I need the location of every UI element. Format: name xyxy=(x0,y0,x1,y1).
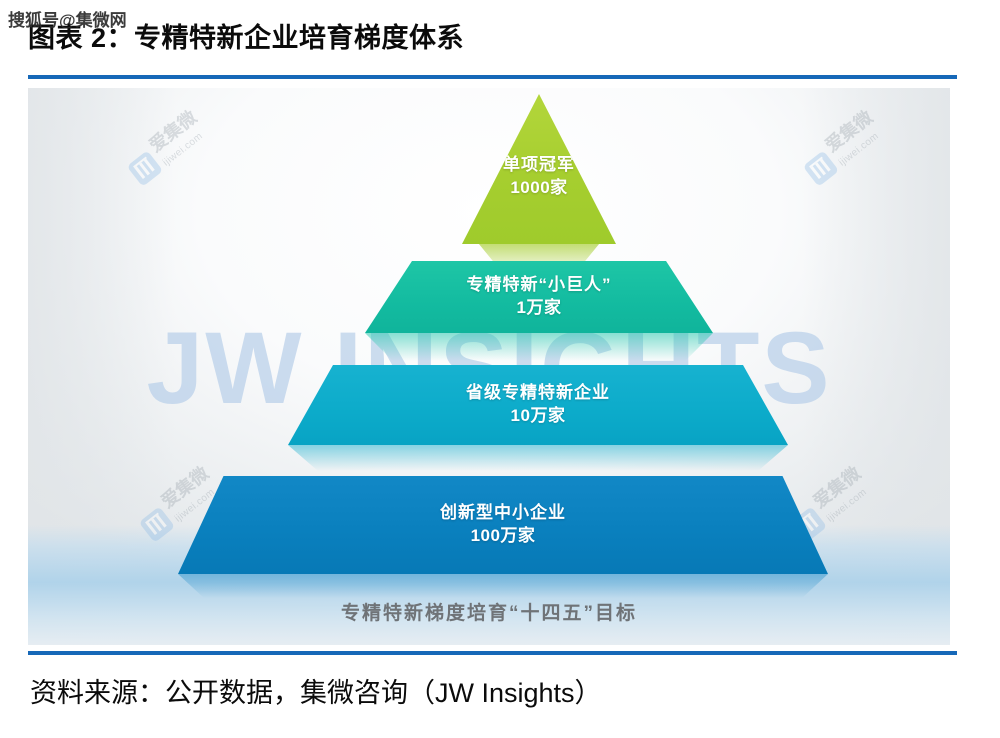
title-divider-bottom xyxy=(28,651,957,655)
tier-4-label: 创新型中小企业 xyxy=(440,502,566,525)
tier-1-value: 1000家 xyxy=(510,177,567,200)
pyramid-tier-3[interactable]: 省级专精特新企业 10万家 xyxy=(288,365,788,445)
top-source-watermark: 搜狐号@集微网 xyxy=(8,6,127,31)
tier-3-label: 省级专精特新企业 xyxy=(466,382,610,405)
pyramid-tier-1[interactable]: 单项冠军 1000家 xyxy=(462,94,616,244)
tier-3-value: 10万家 xyxy=(511,405,566,428)
figure-panel: JW INSIGHTS 爱集微 ijiwei.com 爱集微 ijiwei.co… xyxy=(28,88,950,645)
source-note: 资料来源：公开数据，集微咨询（JW Insights） xyxy=(30,671,602,710)
pyramid-tier-2[interactable]: 专精特新“小巨人” 1万家 xyxy=(365,261,713,333)
tier-4-reflection xyxy=(178,574,828,598)
tier-4-value: 100万家 xyxy=(471,525,536,548)
tier-2-reflection xyxy=(365,333,713,361)
title-divider-top xyxy=(28,75,957,79)
tier-2-label: 专精特新“小巨人” xyxy=(467,274,612,297)
tier-3-reflection xyxy=(288,445,788,471)
pyramid-tier-4[interactable]: 创新型中小企业 100万家 xyxy=(178,476,828,574)
tier-2-value: 1万家 xyxy=(517,297,562,320)
pyramid-chart: 单项冠军 1000家 专精特新“小巨人” 1万家 省级专精特新企业 10万家 创… xyxy=(28,88,950,645)
tier-1-label: 单项冠军 xyxy=(503,154,575,177)
pyramid-base-caption: 专精特新梯度培育“十四五”目标 xyxy=(28,598,950,625)
